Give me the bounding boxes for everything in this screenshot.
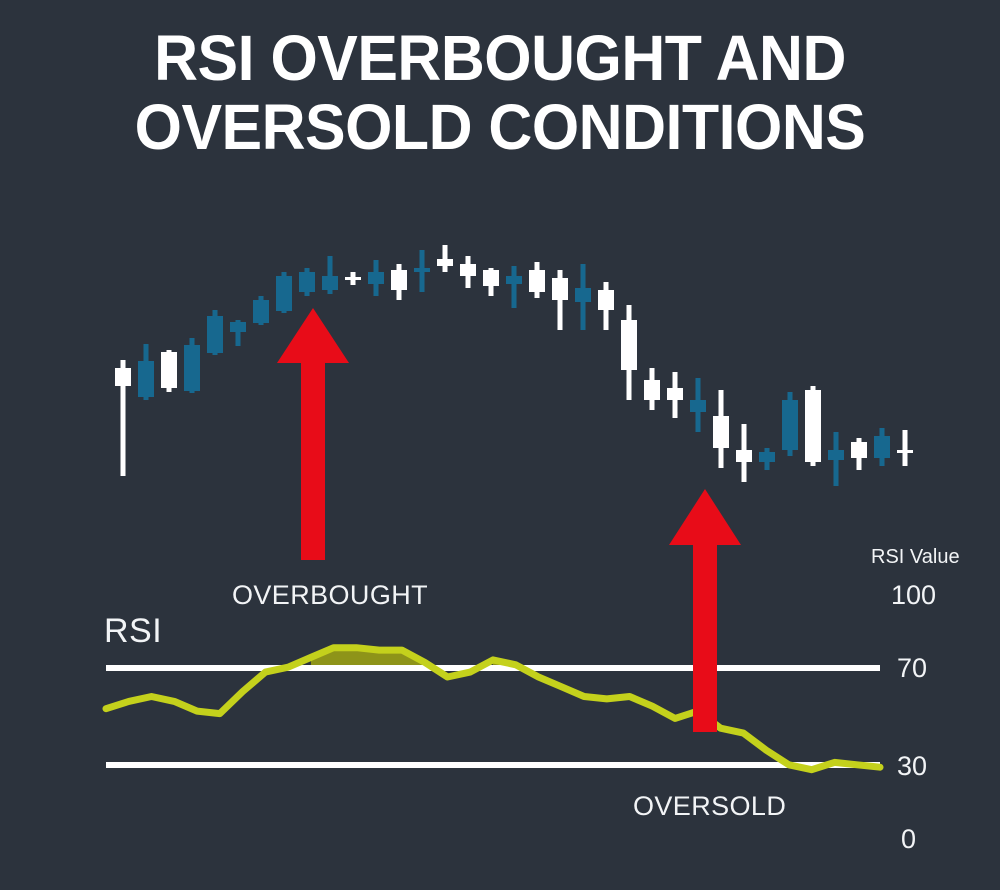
- candle-body: [299, 272, 315, 292]
- rsi-indicator-label: RSI: [104, 612, 162, 651]
- chart-canvas: RSI OVERBOUGHT AND OVERSOLD CONDITIONS O…: [0, 0, 1000, 890]
- candle-body: [483, 270, 499, 286]
- candle-body: [276, 276, 292, 311]
- candle-body: [115, 368, 131, 386]
- candle-body: [207, 316, 223, 353]
- candle-body: [897, 450, 913, 453]
- overbought-arrow: [277, 308, 349, 560]
- candle-body: [851, 442, 867, 458]
- candle-body: [575, 288, 591, 302]
- rsi-value-axis-title: RSI Value: [871, 546, 960, 569]
- candle-body: [345, 277, 361, 280]
- oversold-label: OVERSOLD: [633, 791, 786, 822]
- chart-graphics: [0, 0, 1000, 890]
- axis-tick-30: 30: [897, 751, 927, 782]
- candle-body: [621, 320, 637, 370]
- axis-tick-70: 70: [897, 653, 927, 684]
- candlestick-series: [115, 245, 913, 486]
- candle-body: [138, 361, 154, 397]
- candle-body: [782, 400, 798, 450]
- candle-body: [552, 278, 568, 300]
- candle-wick: [903, 430, 908, 466]
- candle-body: [828, 450, 844, 460]
- candle-body: [529, 270, 545, 292]
- candle-body: [690, 400, 706, 412]
- candle-body: [184, 345, 200, 391]
- candle-body: [368, 272, 384, 284]
- candle-body: [230, 322, 246, 332]
- candle-body: [713, 416, 729, 448]
- candle-body: [161, 352, 177, 388]
- candle-body: [736, 450, 752, 462]
- candle-body: [322, 276, 338, 290]
- candle-body: [805, 390, 821, 462]
- candle-body: [414, 268, 430, 272]
- candle-body: [253, 300, 269, 323]
- axis-tick-100: 100: [891, 580, 936, 611]
- candle-body: [759, 452, 775, 462]
- candle-body: [460, 264, 476, 276]
- oversold-arrow: [669, 489, 741, 732]
- candle-wick: [512, 266, 517, 308]
- candle-body: [644, 380, 660, 400]
- axis-tick-0: 0: [901, 824, 916, 855]
- overbought-label: OVERBOUGHT: [232, 580, 428, 611]
- candle-body: [506, 276, 522, 284]
- candle-body: [874, 436, 890, 458]
- candle-wick: [443, 245, 448, 272]
- rsi-panel: [106, 648, 880, 770]
- candle-body: [598, 290, 614, 310]
- candle-body: [391, 270, 407, 290]
- candle-body: [667, 388, 683, 400]
- candle-body: [437, 259, 453, 266]
